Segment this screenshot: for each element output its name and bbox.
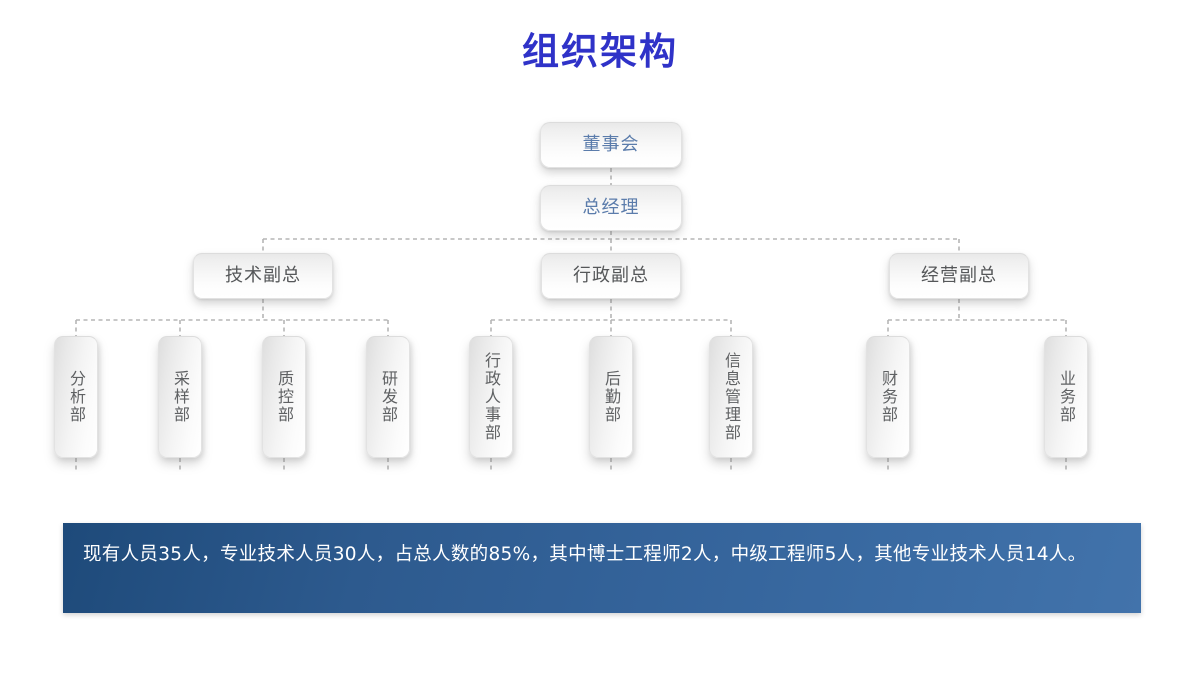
node-ops-vp-label: 经营副总 (921, 265, 997, 288)
summary-banner-text: 现有人员35人，专业技术人员30人，占总人数的85%，其中博士工程师2人，中级工… (83, 540, 1115, 570)
node-finance-dept-label: 财务部 (880, 370, 896, 424)
node-board[interactable]: 董事会 (540, 122, 682, 168)
node-admin-hr-dept[interactable]: 行政人事部 (469, 336, 513, 458)
node-info-management-dept[interactable]: 信息管理部 (709, 336, 753, 458)
node-business-dept-label: 业务部 (1058, 370, 1074, 424)
node-quality-control-dept-label: 质控部 (276, 370, 292, 424)
node-logistics-dept-label: 后勤部 (603, 370, 619, 424)
node-admin-vp-label: 行政副总 (573, 265, 649, 288)
node-info-management-dept-label: 信息管理部 (723, 352, 739, 442)
node-general-manager-label: 总经理 (583, 197, 640, 220)
node-finance-dept[interactable]: 财务部 (866, 336, 910, 458)
node-tech-vp[interactable]: 技术副总 (193, 253, 333, 299)
node-logistics-dept[interactable]: 后勤部 (589, 336, 633, 458)
node-rd-dept-label: 研发部 (380, 370, 396, 424)
node-board-label: 董事会 (583, 134, 640, 157)
node-ops-vp[interactable]: 经营副总 (889, 253, 1029, 299)
node-sampling-dept[interactable]: 采样部 (158, 336, 202, 458)
node-quality-control-dept[interactable]: 质控部 (262, 336, 306, 458)
node-general-manager[interactable]: 总经理 (540, 185, 682, 231)
node-analysis-dept-label: 分析部 (68, 370, 84, 424)
node-analysis-dept[interactable]: 分析部 (54, 336, 98, 458)
node-admin-hr-dept-label: 行政人事部 (483, 352, 499, 442)
slide-canvas: 组织架构 (0, 0, 1200, 675)
node-tech-vp-label: 技术副总 (225, 265, 301, 288)
node-admin-vp[interactable]: 行政副总 (541, 253, 681, 299)
summary-banner: 现有人员35人，专业技术人员30人，占总人数的85%，其中博士工程师2人，中级工… (63, 523, 1141, 613)
node-business-dept[interactable]: 业务部 (1044, 336, 1088, 458)
node-sampling-dept-label: 采样部 (172, 370, 188, 424)
node-rd-dept[interactable]: 研发部 (366, 336, 410, 458)
